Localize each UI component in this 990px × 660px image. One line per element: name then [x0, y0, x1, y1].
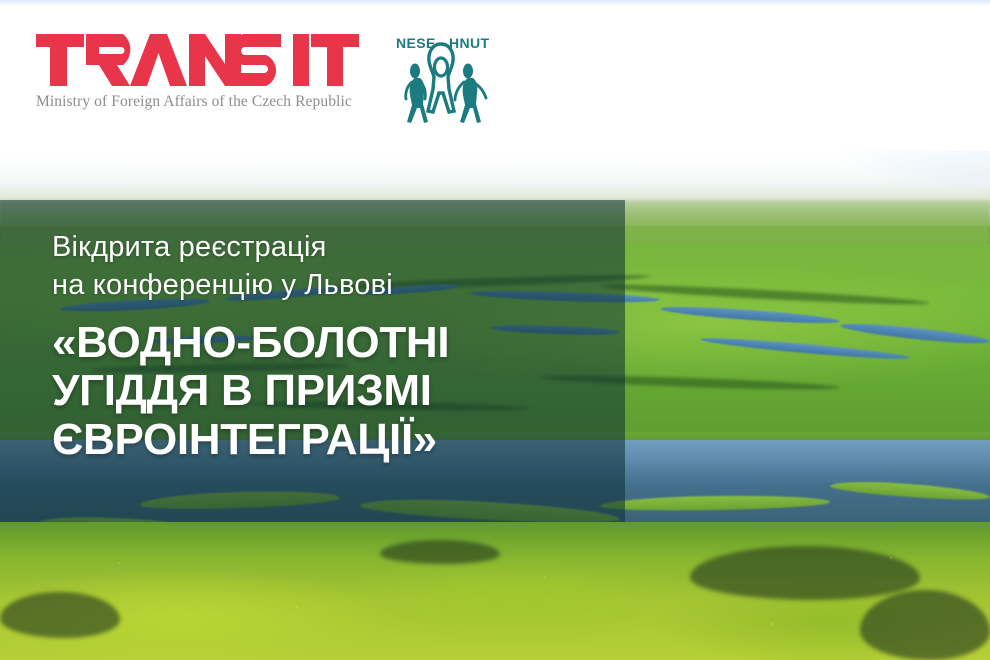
- conference-announcement-banner: Вікдрита реєстрація на конференцію у Льв…: [0, 0, 990, 660]
- nesehnuti-logo: NESE HNUTÍ: [392, 32, 490, 128]
- foreground-texture: [0, 522, 990, 660]
- title-line-2: УГІДДЯ В ПРИЗМІ: [52, 367, 612, 416]
- svg-text:HNUTÍ: HNUTÍ: [449, 35, 490, 51]
- nesehnuti-figures-icon: NESE HNUTÍ: [392, 32, 490, 128]
- subtitle-line-1: Вікдрита реєстрація: [52, 228, 612, 266]
- subtitle-line-2: на конференцію у Львові: [52, 266, 612, 304]
- title-line-3: ЄВРОІНТЕГРАЦІЇ»: [52, 416, 612, 465]
- banner-header: Ministry of Foreign Affairs of the Czech…: [0, 0, 990, 150]
- ministry-tagline: Ministry of Foreign Affairs of the Czech…: [36, 93, 366, 111]
- title-line-1: «ВОДНО-БОЛОТНІ: [52, 319, 612, 368]
- announcement-subtitle: Вікдрита реєстрація на конференцію у Льв…: [52, 228, 612, 305]
- top-accent-rule: [0, 0, 990, 5]
- svg-text:NESE: NESE: [396, 35, 436, 51]
- headline-text-block: Вікдрита реєстрація на конференцію у Льв…: [52, 228, 612, 465]
- conference-title: «ВОДНО-БОЛОТНІ УГІДДЯ В ПРИЗМІ ЄВРОІНТЕГ…: [52, 319, 612, 465]
- transition-wordmark-icon: [36, 34, 361, 86]
- transition-logo: Ministry of Foreign Affairs of the Czech…: [36, 34, 366, 111]
